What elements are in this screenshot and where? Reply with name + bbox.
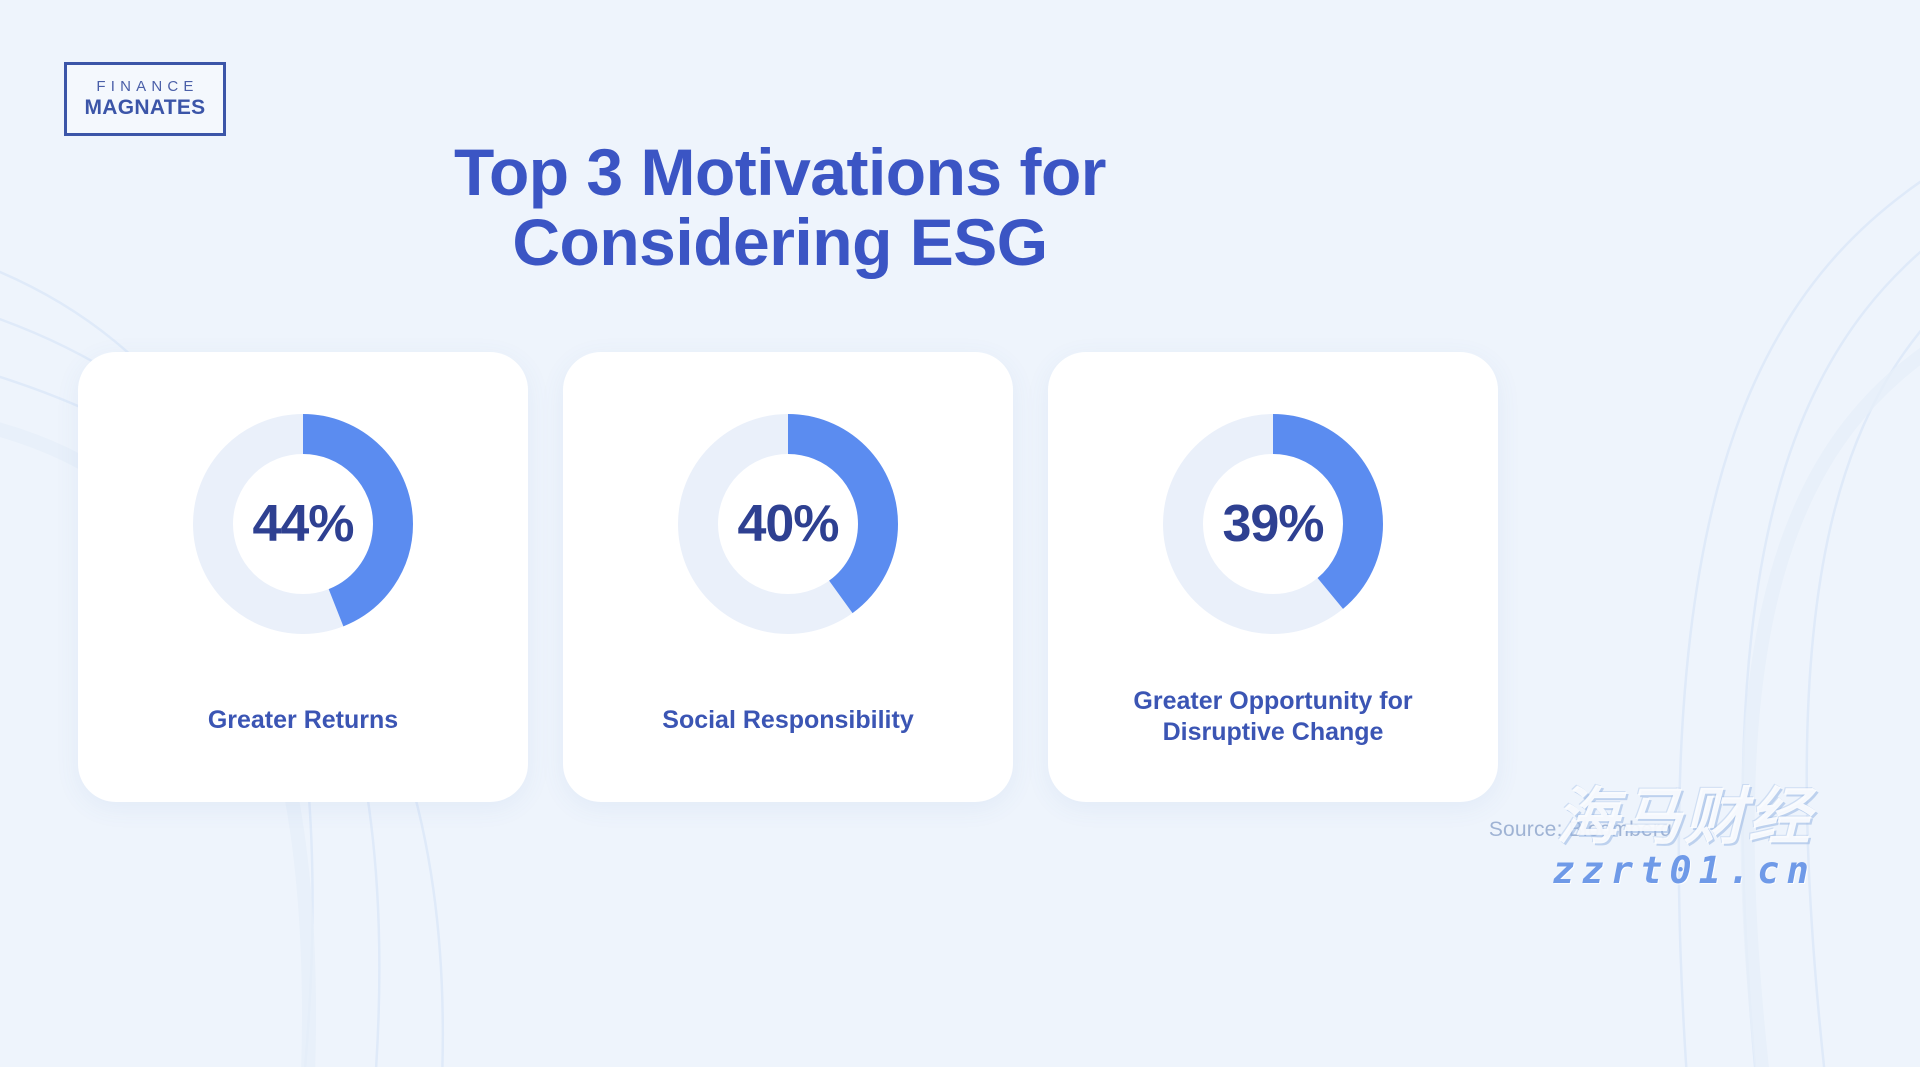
page-title: Top 3 Motivations for Considering ESG bbox=[0, 138, 1560, 278]
logo-line-magnates: MAGNATES bbox=[84, 96, 205, 119]
page-title-line-1: Top 3 Motivations for bbox=[0, 138, 1560, 208]
card-label-1-line-1: Greater Returns bbox=[104, 705, 502, 736]
donut-value-3: 39% bbox=[1157, 408, 1389, 640]
logo-line-finance: FINANCE bbox=[91, 79, 198, 96]
card-label-2: Social Responsibility bbox=[563, 705, 1013, 736]
stat-card-social-responsibility[interactable]: 40% Social Responsibility bbox=[563, 352, 1013, 802]
card-label-3-line-1: Greater Opportunity for bbox=[1074, 686, 1472, 717]
card-label-3-line-2: Disruptive Change bbox=[1074, 717, 1472, 748]
source-attribution: Source: Bloomberg bbox=[1489, 818, 1672, 842]
page-title-line-2: Considering ESG bbox=[0, 208, 1560, 278]
card-label-3: Greater Opportunity for Disruptive Chang… bbox=[1048, 686, 1498, 749]
card-label-1: Greater Returns bbox=[78, 705, 528, 736]
donut-chart-2: 40% bbox=[672, 408, 904, 640]
donut-value-2: 40% bbox=[672, 408, 904, 640]
stat-cards-row: 44% Greater Returns 40% Social Responsib… bbox=[78, 352, 1498, 802]
watermark-url-text: zzrt01.cn bbox=[1474, 852, 1894, 889]
stat-card-disruptive-change[interactable]: 39% Greater Opportunity for Disruptive C… bbox=[1048, 352, 1498, 802]
brand-logo[interactable]: FINANCE MAGNATES bbox=[64, 62, 226, 136]
stat-card-greater-returns[interactable]: 44% Greater Returns bbox=[78, 352, 528, 802]
donut-value-1: 44% bbox=[187, 408, 419, 640]
donut-chart-1: 44% bbox=[187, 408, 419, 640]
donut-chart-3: 39% bbox=[1157, 408, 1389, 640]
card-label-2-line-1: Social Responsibility bbox=[589, 705, 987, 736]
